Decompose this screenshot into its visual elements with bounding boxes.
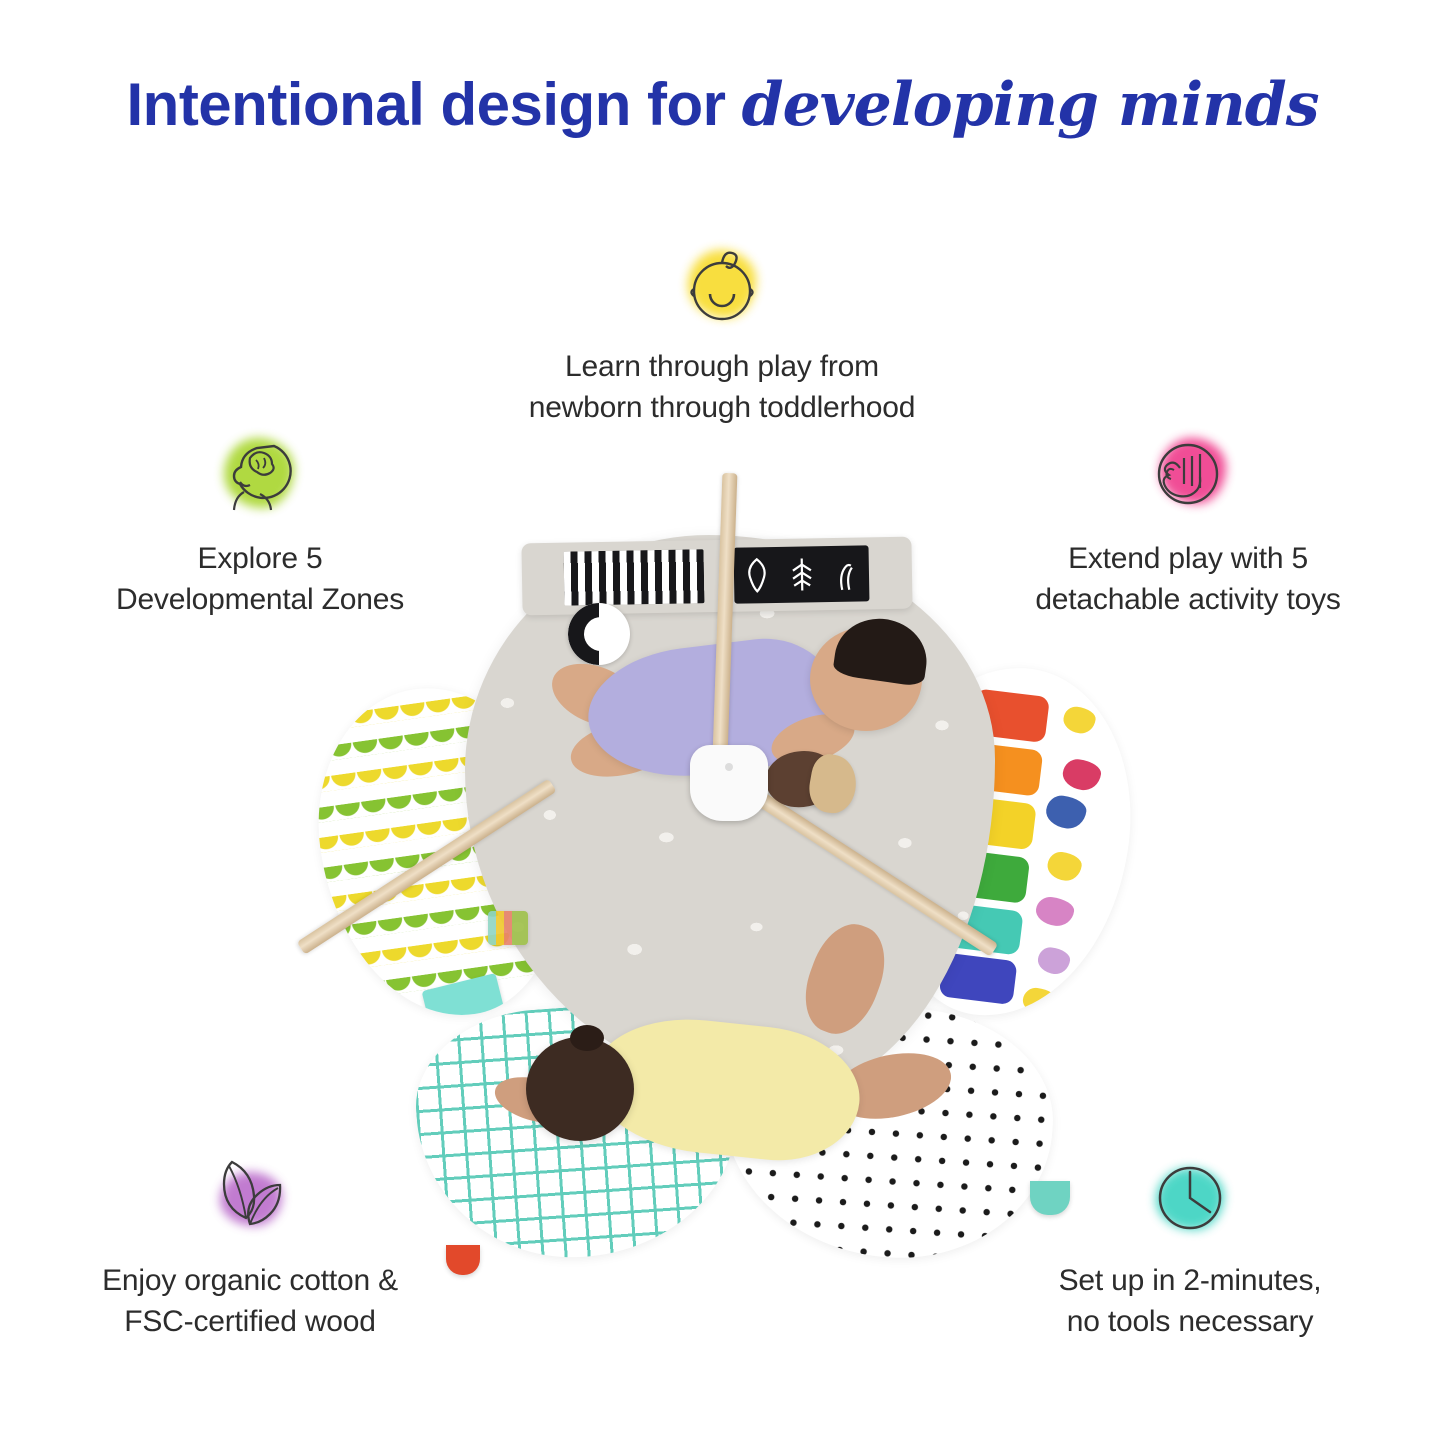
black-white-disc-toy [568, 603, 630, 665]
contrast-wave-panel [564, 549, 705, 605]
page-title-bold: Intentional design for [127, 71, 726, 138]
teal-fabric-tab [1030, 1181, 1070, 1215]
feature-learn-through-play: Learn through play from newborn through … [472, 236, 972, 429]
contrast-leaf-panel [734, 545, 870, 603]
page-header: Intentional design for developing minds [0, 0, 1445, 210]
page-title-italic: developing minds [742, 70, 1319, 140]
play-mat [270, 455, 1170, 1275]
gym-center-hub [690, 745, 768, 821]
baby-face-icon [674, 236, 770, 332]
baby-play-gym-photo [270, 455, 1170, 1275]
page-title: Intentional design for developing minds [127, 73, 1319, 137]
toddler-head [526, 1037, 634, 1141]
feature-text: Learn through play from newborn through … [529, 346, 916, 429]
green-fabric-tab [342, 1029, 375, 1032]
ribbon-tag-toy [488, 911, 528, 945]
toddler-hair-bun [570, 1025, 604, 1051]
red-fabric-tab [446, 1245, 480, 1275]
